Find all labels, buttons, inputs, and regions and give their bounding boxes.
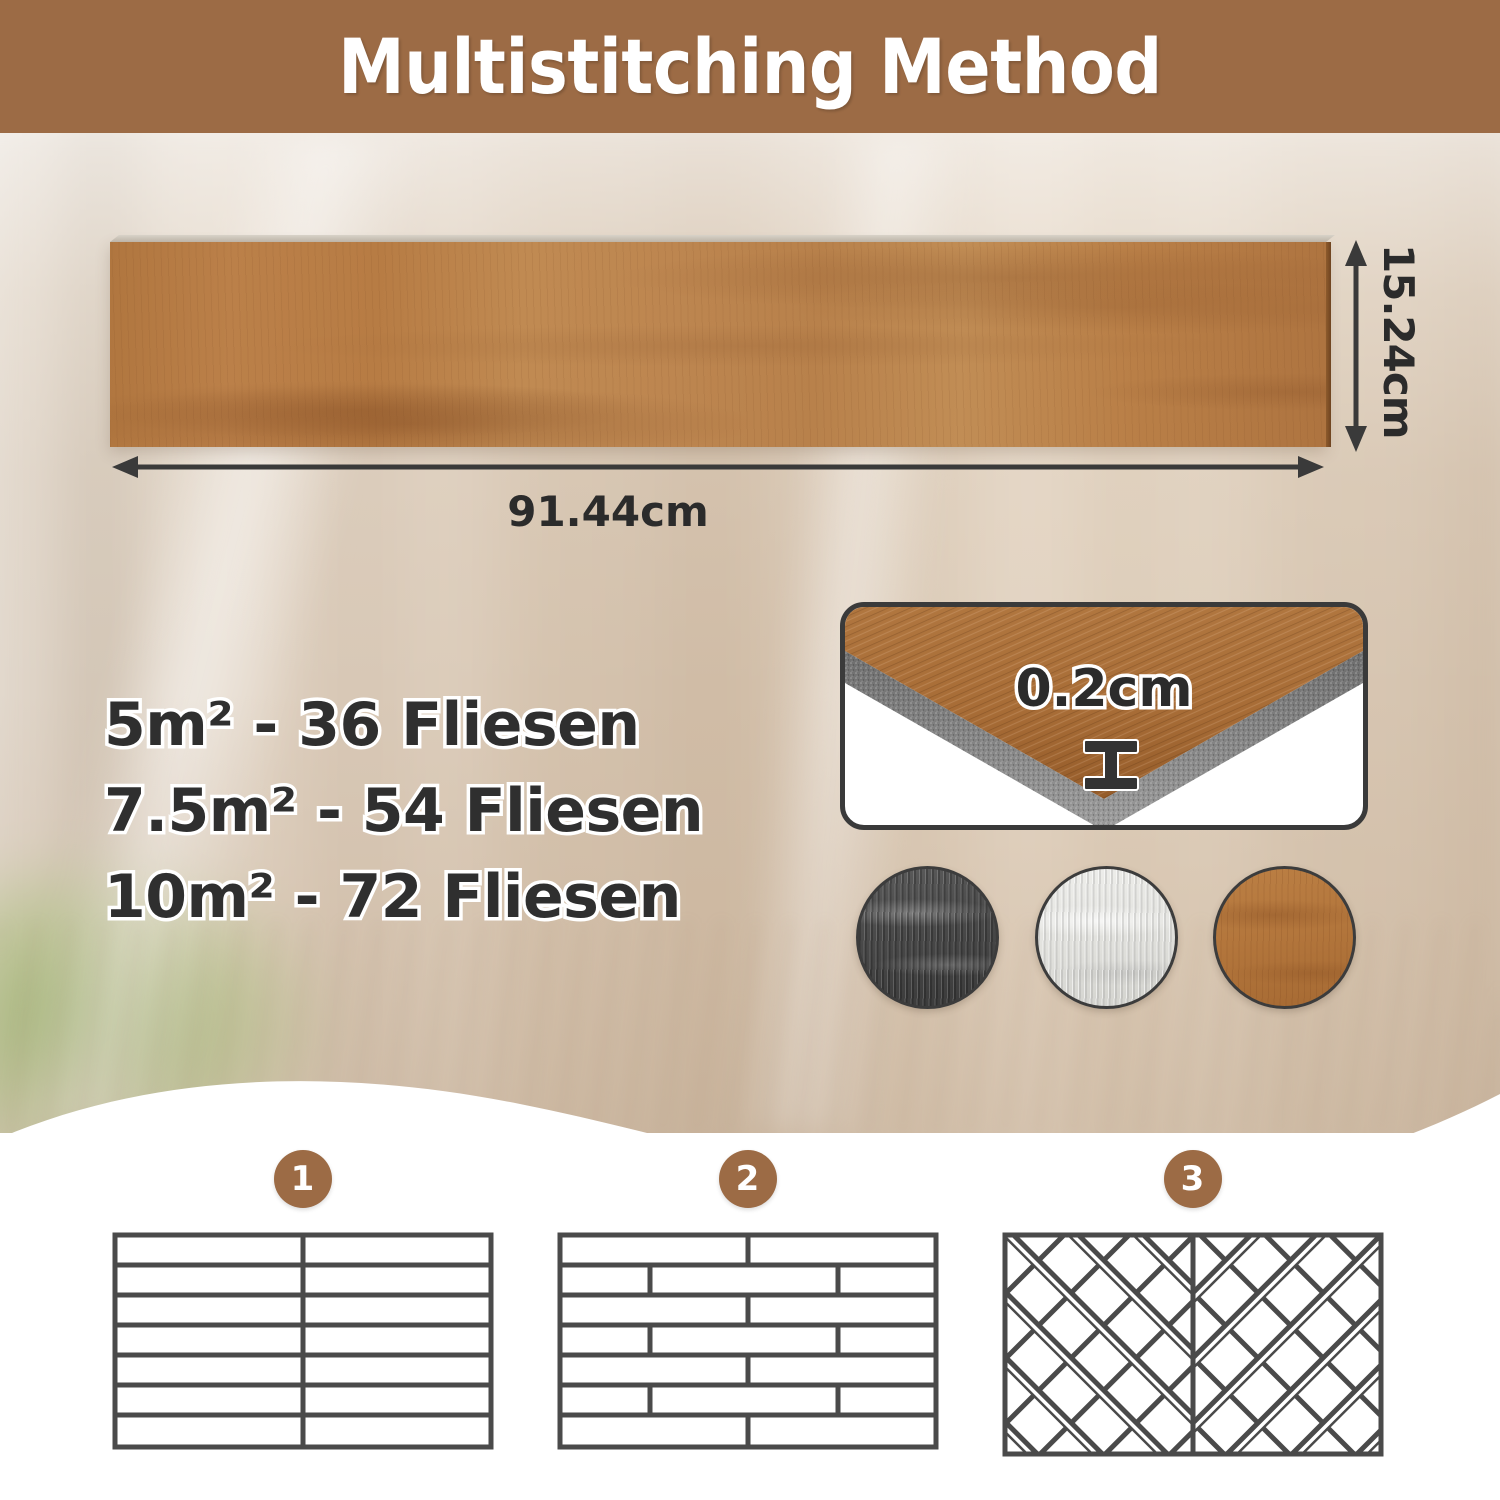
pattern-straight-stack: 1 <box>80 1150 525 1457</box>
pattern-badge-1: 1 <box>274 1150 332 1208</box>
pattern-diagram-3 <box>1002 1232 1384 1457</box>
swatch-light-grey-wood[interactable] <box>1035 866 1178 1009</box>
coverage-line-2: 7.5m² - 54 Fliesen <box>104 776 703 846</box>
swatch-brown-wood[interactable] <box>1213 866 1356 1009</box>
width-dimension-label: 15.24cm <box>1374 244 1423 439</box>
plank-top-edge <box>110 235 1335 242</box>
pattern-diagram-2 <box>557 1232 939 1457</box>
coverage-list: 5m² - 36 Fliesen 7.5m² - 54 Fliesen 10m²… <box>104 690 703 932</box>
length-dimension-label: 91.44cm <box>0 487 1216 536</box>
pattern-badge-2: 2 <box>719 1150 777 1208</box>
plank-right-edge <box>1326 242 1331 447</box>
layout-patterns-section: 1 2 <box>0 1150 1500 1500</box>
pattern-staggered-brick: 2 <box>525 1150 970 1457</box>
page-title: Multistitching Method <box>338 22 1162 111</box>
color-swatch-group <box>856 866 1356 1016</box>
i-beam-thickness-icon <box>1081 739 1141 795</box>
coverage-line-1: 5m² - 36 Fliesen <box>104 690 703 760</box>
coverage-line-3: 10m² - 72 Fliesen <box>104 862 703 932</box>
pattern-herringbone: 3 <box>970 1150 1415 1457</box>
header-banner: Multistitching Method <box>0 0 1500 133</box>
thickness-label: 0.2cm <box>845 659 1363 719</box>
length-dimension-arrow <box>112 452 1324 482</box>
thickness-callout-box: 0.2cm <box>840 602 1368 830</box>
swatch-dark-grey-wood[interactable] <box>856 866 999 1009</box>
pattern-badge-3: 3 <box>1164 1150 1222 1208</box>
width-dimension-arrow <box>1340 240 1372 452</box>
wood-plank-image <box>110 242 1326 447</box>
pattern-diagram-1 <box>112 1232 494 1457</box>
